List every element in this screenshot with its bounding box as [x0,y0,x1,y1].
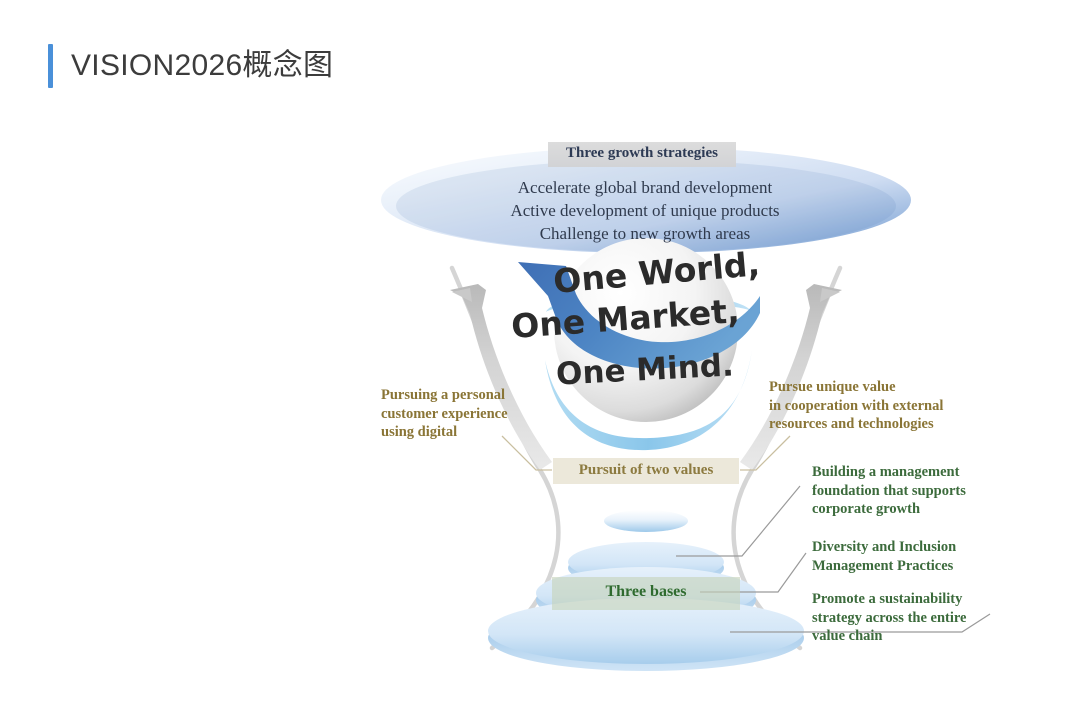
vision-concept-diagram: Three growth strategies Accelerate globa… [0,0,1080,718]
growth-strategy-line-2: Active development of unique products [365,201,925,221]
three-growth-strategies-label: Three growth strategies [548,145,736,162]
base-note-sustainability: Promote a sustainability strategy across… [812,590,967,646]
value-note-right: Pursue unique value in cooperation with … [769,378,943,434]
base-note-diversity-inclusion: Diversity and Inclusion Management Pract… [812,538,956,575]
growth-strategy-line-1: Accelerate global brand development [365,178,925,198]
base-note-management-foundation: Building a management foundation that su… [812,463,966,519]
pursuit-of-two-values-label: Pursuit of two values [553,462,739,479]
three-bases-label: Three bases [552,583,740,601]
value-note-left: Pursuing a personal customer experience … [381,386,508,442]
base-disc-small [604,510,688,532]
growth-strategy-line-3: Challenge to new growth areas [365,224,925,244]
